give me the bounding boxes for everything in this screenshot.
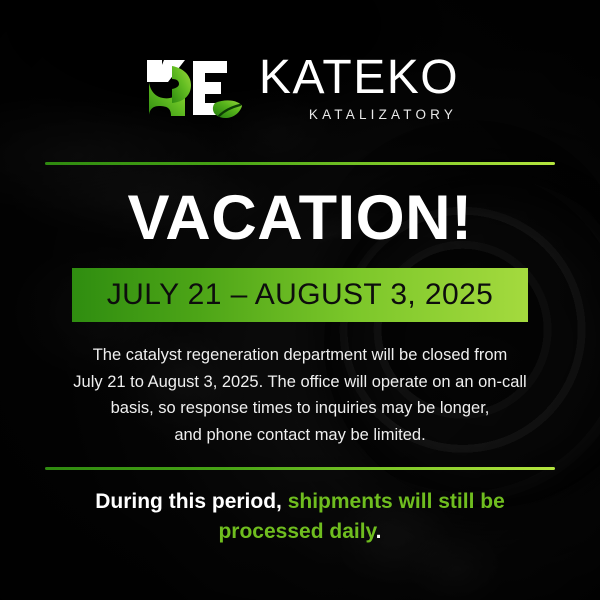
headline: VACATION! [127,187,472,250]
body-copy: The catalyst regeneration department wil… [30,342,570,449]
brand-name: KATEKO [259,54,459,101]
date-range-banner: JULY 21 – AUGUST 3, 2025 [72,268,528,322]
closing-statement-wrap: During this period, shipments will still… [45,487,555,547]
body-line: basis, so response times to inquiries ma… [30,395,570,422]
brand-wordmark: KATEKO KATALIZATORY [259,54,459,122]
body-line: July 21 to August 3, 2025. The office wi… [30,369,570,396]
body-line: The catalyst regeneration department wil… [30,342,570,369]
date-range-text: JULY 21 – AUGUST 3, 2025 [107,278,494,312]
ke-monogram-leaf-icon [141,52,245,124]
divider-top [45,162,555,165]
closing-suffix: . [376,520,382,543]
brand-logo-lockup: KATEKO KATALIZATORY [141,48,459,128]
poster-content: KATEKO KATALIZATORY VACATION! JULY 21 – … [0,0,600,600]
closing-statement: During this period, shipments will still… [45,487,555,547]
brand-tagline: KATALIZATORY [309,107,457,122]
closing-prefix: During this period, [95,490,288,513]
divider-bottom [45,467,555,470]
vacation-announcement-poster: KATEKO KATALIZATORY VACATION! JULY 21 – … [0,0,600,600]
body-line: and phone contact may be limited. [30,422,570,449]
